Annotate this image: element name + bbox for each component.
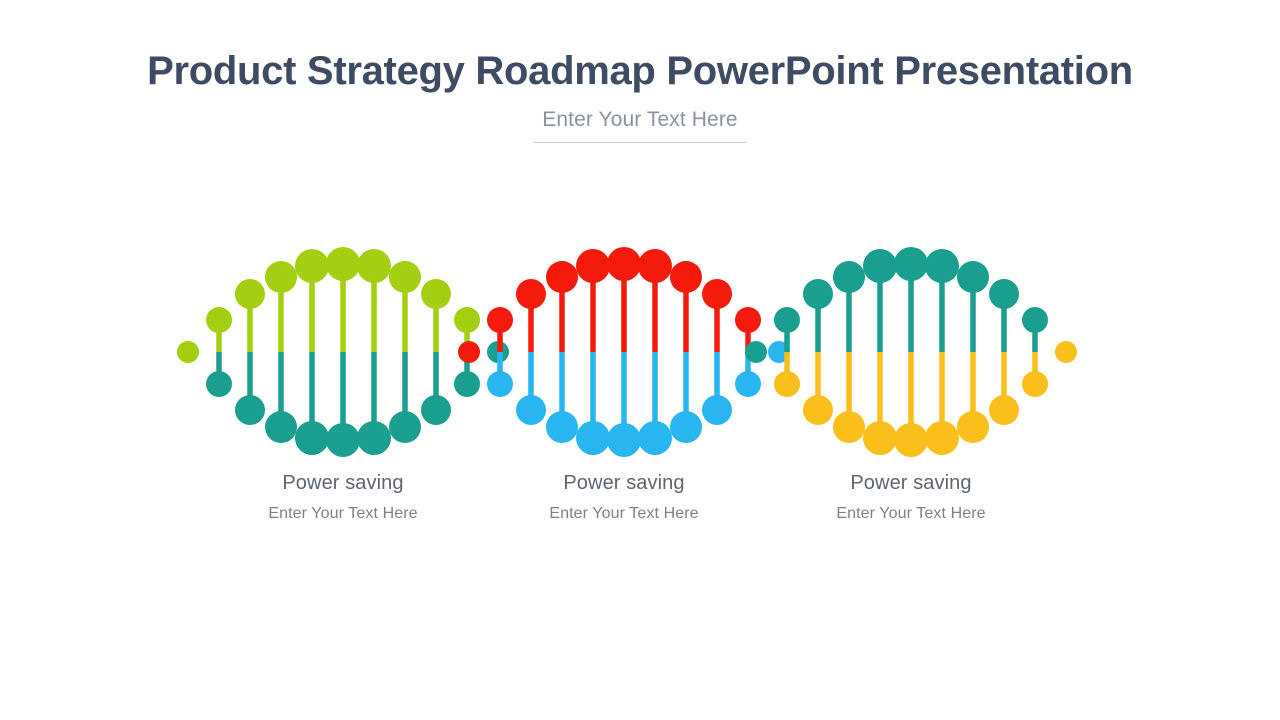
helix-node-bottom [735,371,761,397]
helix-rung[interactable] [957,261,989,443]
helix-node-bottom [957,411,989,443]
caption-row: Power saving Enter Your Text Here Power … [0,470,1280,540]
helix-node-bottom [326,423,360,457]
helix-rung[interactable] [1022,307,1048,397]
caption-subtitle-1: Enter Your Text Here [193,504,493,525]
helix-rung[interactable] [989,279,1019,425]
helix-node-bottom [295,421,329,455]
slide-canvas: Product Strategy Roadmap PowerPoint Pres… [0,0,1280,720]
helix-node-top [957,261,989,293]
helix-node-top [235,279,265,309]
caption-subtitle-3: Enter Your Text Here [761,504,1061,525]
helix-node-top [925,249,959,283]
helix-node-bottom [989,395,1019,425]
helix-node-bottom [670,411,702,443]
helix-svg-canvas [0,0,1280,720]
helix-node-top [670,261,702,293]
helix-rung[interactable] [894,247,928,457]
helix-rung[interactable] [803,279,833,425]
helix-node-bottom [235,395,265,425]
helix-rung[interactable] [1055,341,1077,363]
helix-node-bottom [833,411,865,443]
helix-rung[interactable] [458,341,480,363]
helix-node-top [487,307,513,333]
helix-node-bottom [206,371,232,397]
helix-node-top [833,261,865,293]
helix-node-top [421,279,451,309]
helix-node-bottom [576,421,610,455]
helix-node-top [702,279,732,309]
dna-helix-diagram [0,0,1280,720]
helix-rung[interactable] [206,307,232,397]
caption-title-2: Power saving [474,470,774,496]
helix-rung[interactable] [925,249,959,455]
helix-node-top [1022,307,1048,333]
helix-node-bottom [516,395,546,425]
helix-node-top [265,261,297,293]
helix-node-bottom [1055,341,1077,363]
helix-rung[interactable] [638,249,672,455]
helix-node-bottom [389,411,421,443]
helix-node-bottom [1022,371,1048,397]
helix-node-top [389,261,421,293]
caption-group-1: Power saving Enter Your Text Here [193,470,493,525]
helix-node-bottom [607,423,641,457]
helix-node-bottom [803,395,833,425]
helix-rung[interactable] [235,279,265,425]
helix-node-bottom [774,371,800,397]
helix-rung[interactable] [516,279,546,425]
helix-node-top [745,341,767,363]
helix-node-bottom [638,421,672,455]
helix-rung[interactable] [421,279,451,425]
helix-node-bottom [265,411,297,443]
helix-node-top [516,279,546,309]
helix-node-top [177,341,199,363]
helix-rung[interactable] [670,261,702,443]
helix-node-top [546,261,578,293]
helix-node-top [326,247,360,281]
helix-rung[interactable] [833,261,865,443]
helix-node-top [803,279,833,309]
helix-node-top [774,307,800,333]
helix-node-top [989,279,1019,309]
helix-rung[interactable] [326,247,360,457]
helix-node-top [458,341,480,363]
helix-node-bottom [454,371,480,397]
helix-node-top [576,249,610,283]
helix-rung[interactable] [745,341,767,363]
helix-rung[interactable] [576,249,610,455]
caption-group-3: Power saving Enter Your Text Here [761,470,1061,525]
helix-node-bottom [925,421,959,455]
caption-group-2: Power saving Enter Your Text Here [474,470,774,525]
caption-subtitle-2: Enter Your Text Here [474,504,774,525]
helix-rung[interactable] [546,261,578,443]
helix-rung[interactable] [295,249,329,455]
helix-node-bottom [894,423,928,457]
helix-node-top [607,247,641,281]
helix-node-top [206,307,232,333]
helix-rung[interactable] [607,247,641,457]
helix-rung[interactable] [389,261,421,443]
helix-node-bottom [863,421,897,455]
caption-title-1: Power saving [193,470,493,496]
helix-node-top [638,249,672,283]
helix-node-top [357,249,391,283]
helix-rung[interactable] [265,261,297,443]
helix-node-bottom [702,395,732,425]
helix-node-top [454,307,480,333]
helix-node-bottom [357,421,391,455]
caption-title-3: Power saving [761,470,1061,496]
helix-rung[interactable] [863,249,897,455]
helix-node-bottom [487,371,513,397]
helix-node-top [894,247,928,281]
helix-node-bottom [421,395,451,425]
helix-rung[interactable] [357,249,391,455]
helix-rung[interactable] [177,341,199,363]
helix-node-top [295,249,329,283]
helix-node-top [863,249,897,283]
helix-rung[interactable] [702,279,732,425]
helix-node-top [735,307,761,333]
group-3[interactable] [745,247,1077,457]
helix-node-bottom [546,411,578,443]
